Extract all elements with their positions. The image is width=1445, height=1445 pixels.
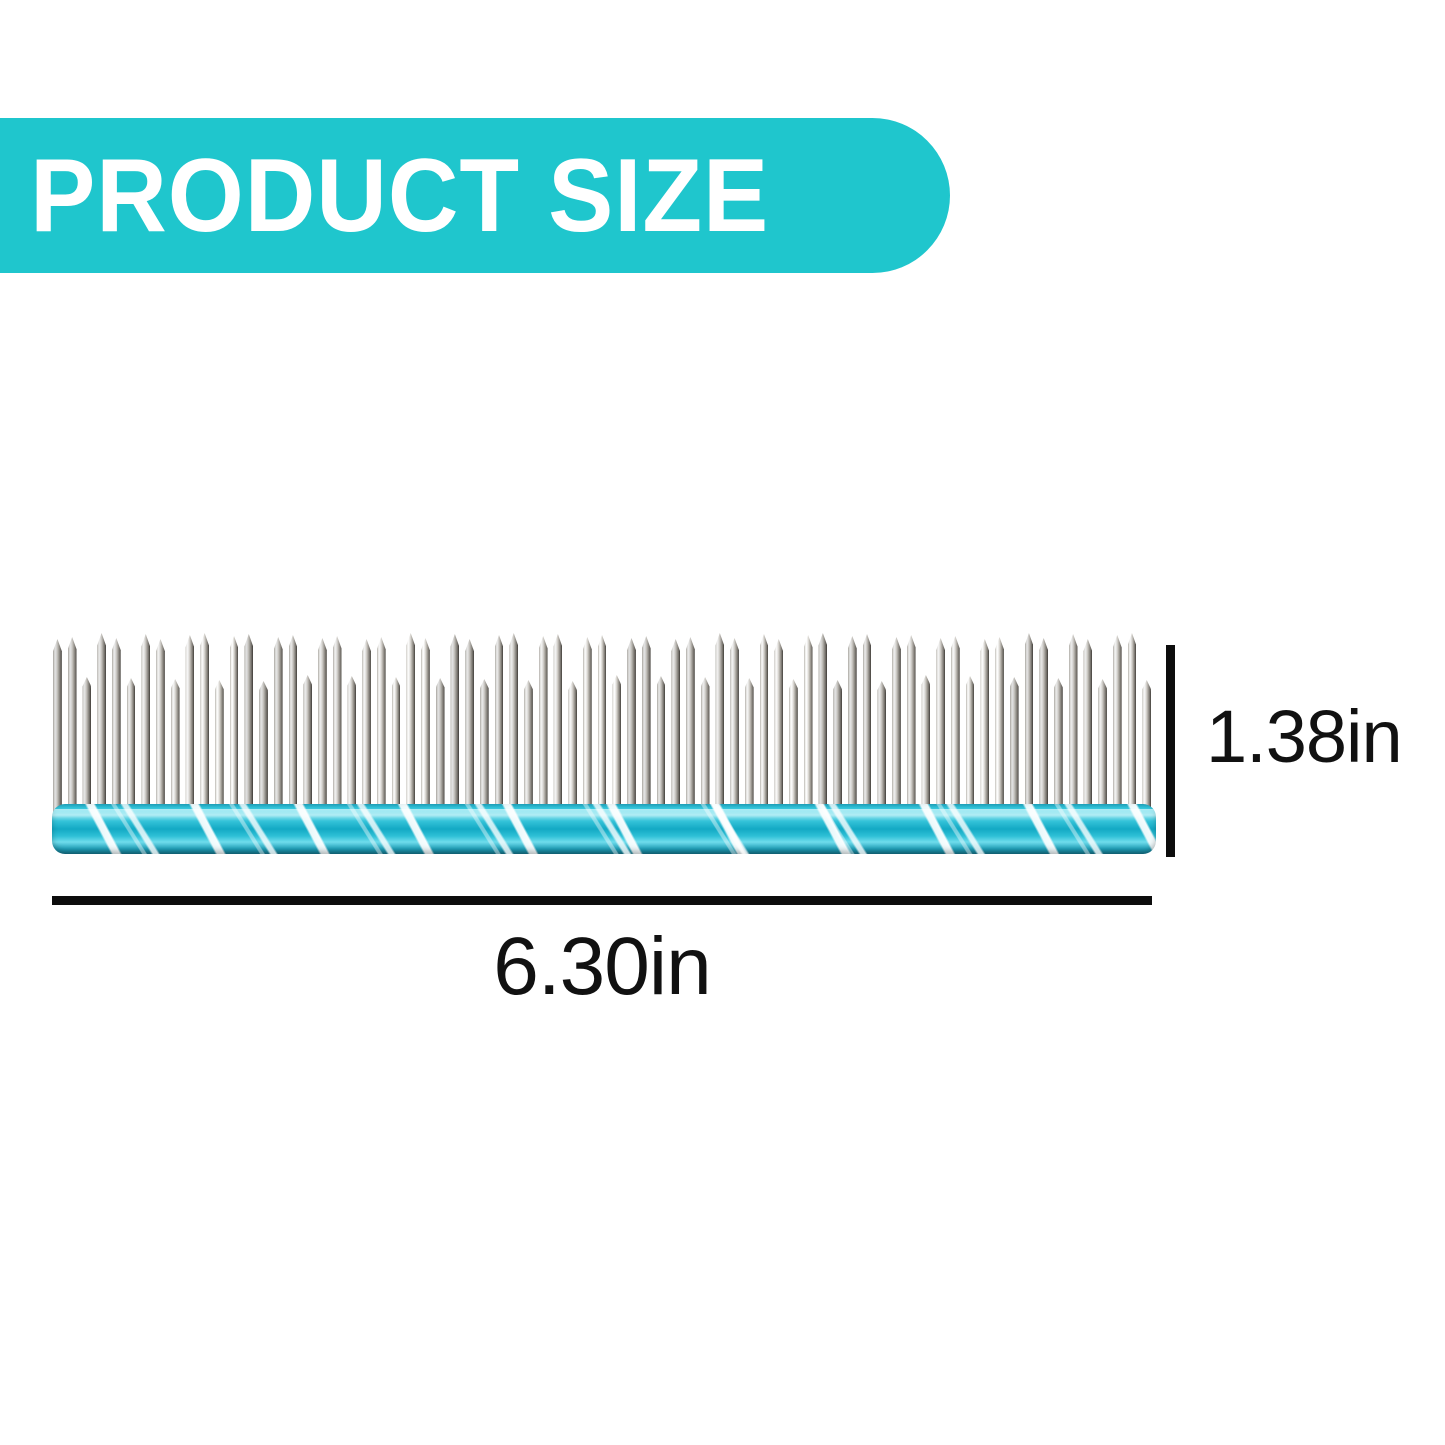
comb-tooth-short <box>877 681 886 812</box>
comb-tooth-tall <box>715 633 724 812</box>
comb-tooth-tall <box>53 639 62 812</box>
comb-tooth-short <box>480 679 489 812</box>
comb-tooth-tall <box>244 634 253 812</box>
comb-tooth-tall <box>730 638 739 812</box>
comb-tooth-short <box>1098 679 1107 812</box>
comb-tooth-short <box>568 681 577 812</box>
comb-tooth-tall <box>68 637 77 812</box>
comb-tooth-tall <box>185 635 194 812</box>
comb-tooth-tall <box>465 639 474 812</box>
product-size-banner: PRODUCT SIZE <box>0 118 950 273</box>
comb-tooth-tall <box>230 636 239 812</box>
comb-tooth-tall <box>671 639 680 812</box>
comb-teeth <box>52 636 1156 812</box>
comb-tooth-short <box>392 677 401 812</box>
comb-tooth-tall <box>848 636 857 812</box>
width-dimension-line <box>52 896 1152 905</box>
comb-tooth-tall <box>362 639 371 812</box>
comb-tooth-tall <box>863 634 872 812</box>
comb-tooth-tall <box>583 637 592 812</box>
comb-tooth-tall <box>627 638 636 812</box>
comb-tooth-tall <box>936 638 945 812</box>
comb-tooth-tall <box>1039 638 1048 812</box>
comb-tooth-short <box>347 676 356 812</box>
comb-tooth-tall <box>539 636 548 812</box>
comb-tooth-tall <box>686 637 695 812</box>
comb-tooth-tall <box>377 637 386 812</box>
comb-tooth-tall <box>1069 634 1078 812</box>
comb-tooth-short <box>303 675 312 812</box>
comb-tooth-tall <box>980 639 989 812</box>
comb-tooth-short <box>127 678 136 812</box>
comb-tooth-tall <box>495 635 504 812</box>
comb-tooth-short <box>657 676 666 812</box>
comb-tooth-tall <box>553 634 562 812</box>
comb-tooth-tall <box>892 637 901 812</box>
comb-tooth-tall <box>200 633 209 812</box>
comb-tooth-tall <box>1083 639 1092 812</box>
comb-tooth-tall <box>141 634 150 812</box>
comb-tooth-short <box>259 681 268 812</box>
comb-tooth-tall <box>97 633 106 812</box>
comb-tooth-tall <box>333 636 342 812</box>
comb-tooth-short <box>745 678 754 812</box>
comb-tooth-short <box>1010 677 1019 812</box>
comb-tooth-short <box>1054 678 1063 812</box>
comb-tooth-short <box>612 675 621 812</box>
comb-tooth-tall <box>642 636 651 812</box>
comb-tooth-tall <box>112 638 121 812</box>
comb-tooth-short <box>1142 680 1151 812</box>
comb-tooth-short <box>436 678 445 812</box>
comb-tooth-short <box>833 680 842 812</box>
comb-tooth-tall <box>509 633 518 812</box>
comb-tooth-tall <box>951 636 960 812</box>
comb-tooth-tall <box>774 639 783 812</box>
product-image-comb <box>52 636 1156 858</box>
comb-tooth-tall <box>421 638 430 812</box>
height-dimension-line <box>1166 645 1175 857</box>
comb-tooth-short <box>82 677 91 812</box>
comb-tooth-tall <box>760 634 769 812</box>
comb-tooth-short <box>171 679 180 812</box>
comb-tooth-tall <box>995 637 1004 812</box>
comb-tooth-tall <box>450 634 459 812</box>
banner-title: PRODUCT SIZE <box>0 144 769 248</box>
comb-tooth-tall <box>289 635 298 812</box>
comb-tooth-tall <box>318 638 327 812</box>
handle-gloss-highlight <box>52 809 1156 818</box>
width-dimension-label: 6.30in <box>0 920 1204 1014</box>
comb-tooth-short <box>789 679 798 812</box>
comb-tooth-tall <box>818 633 827 812</box>
comb-tooth-short <box>701 677 710 812</box>
comb-tooth-tall <box>1025 633 1034 812</box>
comb-tooth-short <box>524 680 533 812</box>
comb-tooth-tall <box>804 635 813 812</box>
comb-tooth-short <box>921 675 930 812</box>
comb-tooth-tall <box>1113 635 1122 812</box>
comb-tooth-tall <box>406 633 415 812</box>
comb-handle <box>52 804 1156 854</box>
comb-tooth-tall <box>1128 633 1137 812</box>
comb-tooth-tall <box>598 635 607 812</box>
comb-tooth-tall <box>907 635 916 812</box>
height-dimension-label: 1.38in <box>1206 694 1402 779</box>
comb-tooth-tall <box>156 639 165 812</box>
comb-tooth-short <box>966 676 975 812</box>
comb-tooth-short <box>215 680 224 812</box>
comb-tooth-tall <box>274 637 283 812</box>
